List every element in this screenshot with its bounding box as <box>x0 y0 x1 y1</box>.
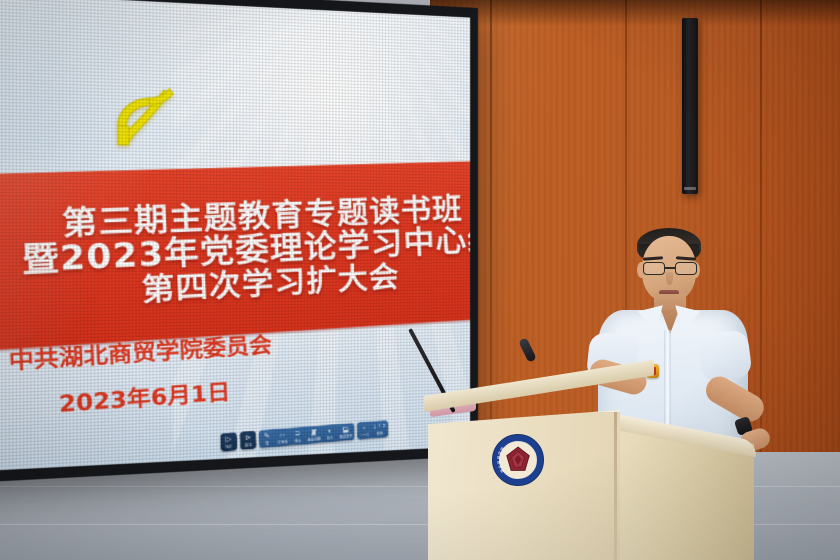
cpc-hammer-sickle-icon <box>92 73 190 160</box>
toolbar-button-highlighter[interactable]: ▱ 荧光笔 <box>274 428 290 447</box>
toolbar-page-indicator[interactable]: 1 / 5 页码 <box>371 420 388 438</box>
timer-icon: ◐ <box>328 428 332 435</box>
eraser-icon: ⊃ <box>295 430 301 438</box>
column-speaker-icon <box>682 18 698 194</box>
toolbar-button-prev-page[interactable]: ‹ 上一页 <box>357 422 372 440</box>
toolbar-label-highlighter: 荧光笔 <box>277 439 288 444</box>
toolbar-button-eraser[interactable]: ⊃ 橡皮 <box>290 427 306 446</box>
toolbar-label-share-screen: 投屏演示 <box>339 434 352 439</box>
pointer-arrow-icon: ⊳ <box>245 434 252 442</box>
toolbar-navigation-group[interactable]: ‹ 上一页 1 / 5 页码 <box>357 420 388 439</box>
led-display-screen[interactable]: 第三期主题教育专题读书班 暨2023年党委理论学习中心组 第四次学习扩大会 中共… <box>0 0 478 484</box>
screen-switch-icon: ▣ <box>311 429 318 437</box>
school-crest-ring-text: 湖北商贸学院 <box>492 434 544 486</box>
toolbar-button-zoom[interactable]: ◐ 放大 <box>322 424 337 442</box>
toolbar-button-screen-switch[interactable]: ▣ 屏幕切换 <box>305 425 323 444</box>
toolbar-button-pen[interactable]: ✎ 笔 <box>259 429 275 448</box>
toolbar-label-pen: 笔 <box>265 441 269 445</box>
toolbar-button-select[interactable]: ⊳ 选择 <box>240 431 257 450</box>
podium-corner-edge <box>614 412 617 560</box>
pen-icon: ✎ <box>264 433 270 441</box>
page-indicator-value: 1 / 5 <box>373 423 386 431</box>
photo-scene: 第三期主题教育专题读书班 暨2023年党委理论学习中心组 第四次学习扩大会 中共… <box>0 0 840 560</box>
highlighter-icon: ▱ <box>280 432 286 440</box>
toolbar-label-pointer: 指针 <box>225 444 232 449</box>
lectern-podium: 湖北商贸学院 <box>424 396 754 560</box>
play-pointer-icon: ▷ <box>226 436 232 444</box>
school-crest-icon: 湖北商贸学院 <box>492 434 544 486</box>
toolbar-label-zoom: 放大 <box>327 436 334 441</box>
toolbar-label-screen-switch: 屏幕切换 <box>307 437 321 442</box>
toolbar-select-group[interactable]: ⊳ 选择 <box>240 431 257 450</box>
toolbar-label-prev-page: 上一页 <box>360 433 370 438</box>
toolbar-button-pointer[interactable]: ▷ 指针 <box>220 432 237 451</box>
share-screen-icon: ⬓ <box>343 426 350 433</box>
wall-top-shadow <box>430 0 840 26</box>
toolbar-pointer-group[interactable]: ▷ 指针 <box>220 432 237 451</box>
toolbar-label-select: 选择 <box>245 443 252 448</box>
chevron-left-icon: ‹ <box>363 425 365 432</box>
toolbar-button-share-screen[interactable]: ⬓ 投屏演示 <box>337 423 355 441</box>
page-indicator-label: 页码 <box>377 431 383 435</box>
nose <box>666 272 673 285</box>
screen-surface[interactable]: 第三期主题教育专题读书班 暨2023年党委理论学习中心组 第四次学习扩大会 中共… <box>0 0 470 473</box>
toolbar-label-eraser: 橡皮 <box>294 438 301 443</box>
sleeve-right <box>697 329 752 383</box>
